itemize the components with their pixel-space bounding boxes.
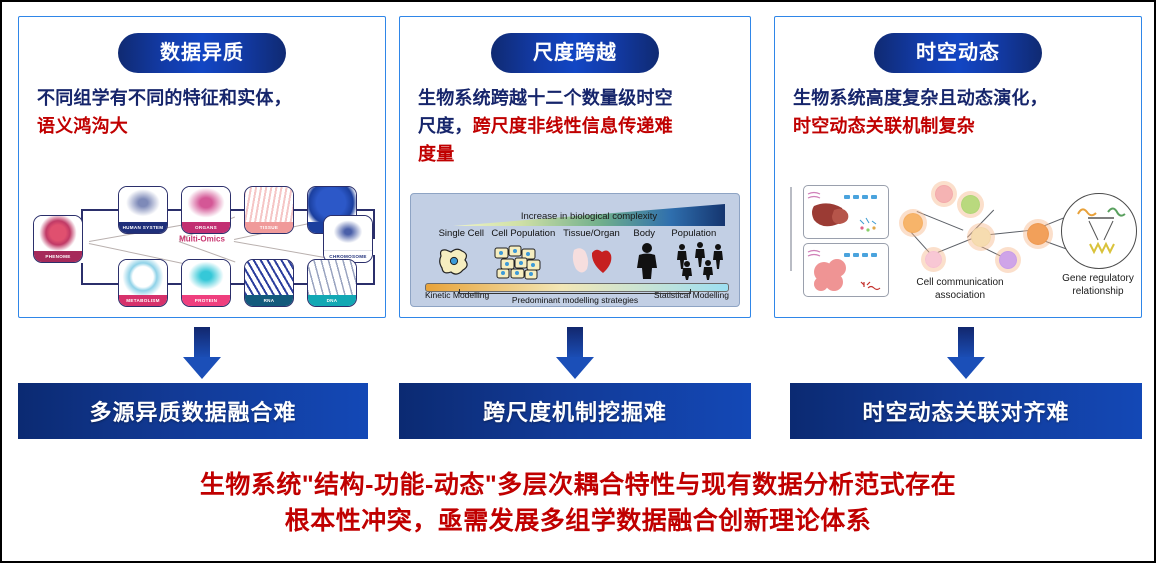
strategy-bracket [459,289,691,294]
arrow-down-3 [947,327,985,379]
panel-text-navy-1: 不同组学有不同的特征和实体， [37,88,292,108]
slide-root: 数据异质 不同组学有不同的特征和实体， 语义鸿沟大 [0,0,1156,563]
single-cell-icon [437,246,471,283]
network-node-2 [925,251,942,268]
omics-node-tissue: TISSUE [244,186,294,234]
network-node-1 [903,213,923,233]
scale-label-body: Body [633,228,655,239]
scale-label-single-cell: Single Cell [439,228,484,239]
scale-label-tissue-organ: Tissue/Organ [563,228,620,239]
omics-node-organs: ORGANS [181,186,231,234]
complexity-gradient-label: Increase in biological complexity [453,208,725,226]
omics-node-protein: PROTEIN [181,259,231,307]
cell-network-diagram: Cell communication association Gene regu… [785,181,1131,309]
omics-node-phenome: PHENOME [33,215,83,263]
figure-wrap-3: Cell communication association Gene regu… [785,181,1131,309]
panel-title-pill-1: 数据异质 [118,33,286,73]
conclusion-text: 生物系统"结构-功能-动态"多层次耦合特性与现有数据分析范式存在 根本性冲突，亟… [2,467,1154,540]
biological-complexity-scale: Increase in biological complexity Single… [410,193,740,307]
result-bar-1: 多源异质数据融合难 [18,383,368,439]
conclusion-line-1: 生物系统"结构-功能-动态"多层次耦合特性与现有数据分析范式存在 [2,467,1154,503]
tissue-organ-icon [568,244,614,283]
gene-regulatory-magnifier [1061,193,1137,269]
panel-title-pill-2: 尺度跨越 [491,33,659,73]
panel-spatiotemporal-dynamics: 时空动态 生物系统高度复杂且动态演化， 时空动态关联机制复杂 [774,16,1142,318]
panel-text-navy-2a: 生物系统跨越十二个数量级时空 [418,88,673,108]
omics-node-chromosome: CHROMOSOME [323,215,373,263]
panel-body-text-1: 不同组学有不同的特征和实体， 语义鸿沟大 [37,85,371,141]
omics-node-dna: DNA [307,259,357,307]
caption-cell-communication-line2: association [935,290,985,301]
network-node-5 [999,251,1017,269]
panel-text-red-3: 时空动态关联机制复杂 [793,116,975,136]
multi-omics-diagram: PHENOME HUMAN SYSTEM ORGANS TISSUE [29,181,375,309]
figure-wrap-2: Increase in biological complexity Single… [410,193,740,307]
axis-caption-strategies: Predominant modelling strategies [411,295,739,305]
panel-data-heterogeneity: 数据异质 不同组学有不同的特征和实体， 语义鸿沟大 [18,16,386,318]
panel-scale-crossing: 尺度跨越 生物系统跨越十二个数量级时空 尺度，跨尺度非线性信息传递难 度量 In… [399,16,751,318]
mini-card-tissue [803,243,889,297]
caption-cell-communication: Cell communication association [895,277,1025,302]
panel-body-text-2: 生物系统跨越十二个数量级时空 尺度，跨尺度非线性信息传递难 度量 [418,85,736,169]
omics-node-human-system: HUMAN SYSTEM [118,186,168,234]
network-node-3 [961,195,980,214]
vertical-axis-strip [789,187,795,279]
caption-gene-regulatory-line1: Gene regulatory [1062,273,1134,284]
cell-population-icon [493,244,545,285]
conclusion-line-2: 根本性冲突，亟需发展多组学数据融合创新理论体系 [2,503,1154,539]
omics-node-rna: RNA [244,259,294,307]
network-node-hub [1027,223,1049,245]
body-icon [633,242,661,285]
panel-text-navy-3: 生物系统高度复杂且动态演化， [793,88,1048,108]
panel-text-red-2b: 度量 [418,144,454,164]
caption-gene-regulatory-line2: relationship [1072,286,1123,297]
scale-name-row: Single Cell Cell Population Tissue/Organ… [421,228,731,242]
panel-text-red-2a: 跨尺度非线性信息传递难 [473,116,673,136]
omics-center-label: Multi-Omics [179,235,225,244]
mini-card-liver [803,185,889,239]
scale-icon-row [411,242,739,282]
result-bar-3: 时空动态关联对齐难 [790,383,1142,439]
scale-label-population: Population [671,228,716,239]
panel-body-text-3: 生物系统高度复杂且动态演化， 时空动态关联机制复杂 [793,85,1127,141]
scale-label-cell-population: Cell Population [491,228,555,239]
caption-gene-regulatory: Gene regulatory relationship [1040,273,1156,298]
arrow-down-2 [556,327,594,379]
figure-wrap-1: PHENOME HUMAN SYSTEM ORGANS TISSUE [29,181,375,309]
panel-title-pill-3: 时空动态 [874,33,1042,73]
panel-text-red-1: 语义鸿沟大 [37,116,128,136]
population-icon [674,242,726,285]
omics-node-metabolism: METABOLISM [118,259,168,307]
panel-text-navy-2b: 尺度， [418,116,473,136]
arrow-down-1 [183,327,221,379]
caption-cell-communication-line1: Cell communication [916,277,1003,288]
result-bar-2: 跨尺度机制挖掘难 [399,383,751,439]
network-node-4 [971,227,991,247]
network-node-6 [935,185,953,203]
